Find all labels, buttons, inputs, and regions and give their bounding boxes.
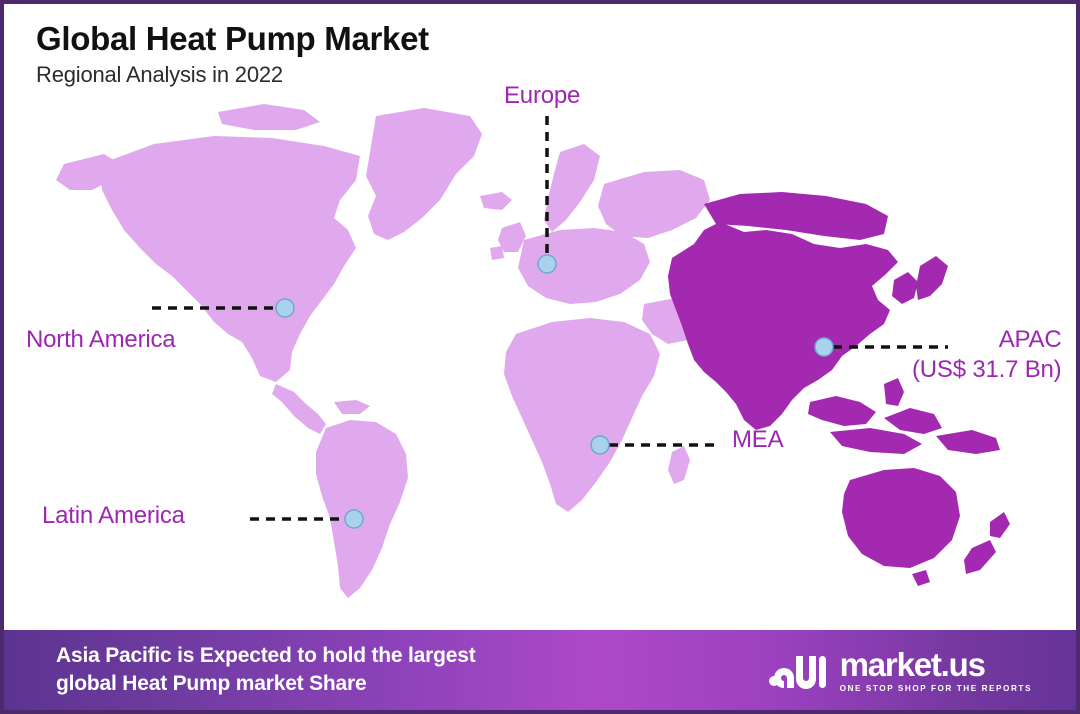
- region-label-mea: MEA: [732, 426, 783, 454]
- market-us-logo-icon: [768, 650, 830, 690]
- region-label-europe: Europe: [504, 82, 580, 110]
- page-title: Global Heat Pump Market: [36, 20, 429, 58]
- brand-tagline: ONE STOP SHOP FOR THE REPORTS: [840, 684, 1032, 693]
- footer-banner: Asia Pacific is Expected to hold the lar…: [4, 630, 1076, 710]
- footer-caption: Asia Pacific is Expected to hold the lar…: [56, 642, 476, 697]
- footer-caption-line2: global Heat Pump market Share: [56, 670, 476, 698]
- brand-name: market.us: [840, 648, 1032, 681]
- region-label-north-america: North America: [26, 326, 175, 354]
- region-label-apac: APAC (US$ 31.7 Bn): [912, 326, 1061, 384]
- footer-caption-line1: Asia Pacific is Expected to hold the lar…: [56, 642, 476, 670]
- region-value-apac: (US$ 31.7 Bn): [912, 356, 1061, 384]
- infographic-root: Global Heat Pump Market Regional Analysi…: [0, 0, 1080, 714]
- brand-logo[interactable]: market.us ONE STOP SHOP FOR THE REPORTS: [768, 648, 1052, 693]
- region-label-apac-name: APAC: [999, 326, 1062, 353]
- header: Global Heat Pump Market Regional Analysi…: [36, 20, 429, 88]
- brand-text: market.us ONE STOP SHOP FOR THE REPORTS: [840, 648, 1032, 693]
- region-label-latin-america: Latin America: [42, 502, 185, 530]
- page-subtitle: Regional Analysis in 2022: [36, 62, 429, 88]
